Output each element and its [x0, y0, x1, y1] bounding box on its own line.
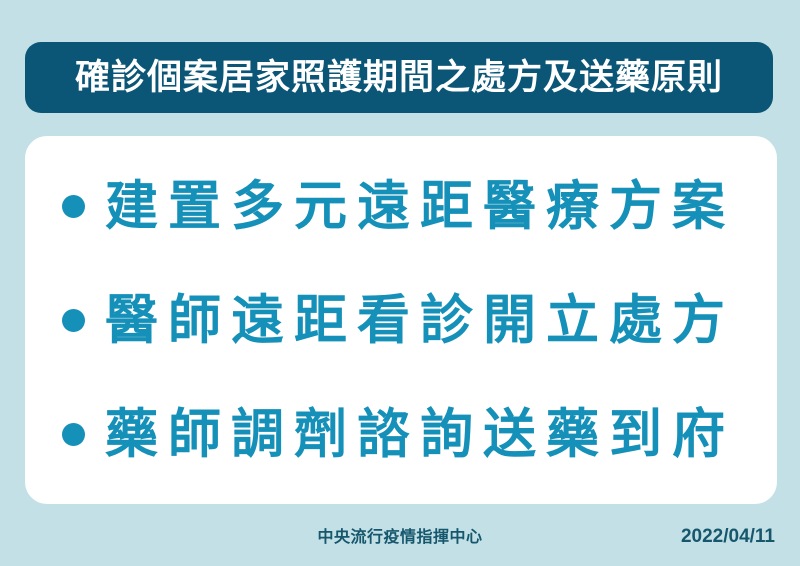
- bullet-item-label: 藥師調劑諮詢送藥到府: [105, 408, 735, 461]
- bullet-dot-icon: [62, 309, 85, 332]
- page-title: 確診個案居家照護期間之處方及送藥原則: [75, 60, 723, 95]
- list-item: 藥師調劑諮詢送藥到府: [25, 377, 777, 491]
- list-item: 建置多元遠距醫療方案: [25, 149, 777, 263]
- bullet-dot-icon: [62, 423, 85, 446]
- bullet-item-label: 建置多元遠距醫療方案: [105, 180, 735, 233]
- poster-root: 確診個案居家照護期間之處方及送藥原則 建置多元遠距醫療方案 醫師遠距看診開立處方…: [0, 0, 800, 566]
- bullet-dot-icon: [62, 195, 85, 218]
- list-item: 醫師遠距看診開立處方: [25, 263, 777, 377]
- footer: 中央流行疫情指揮中心 2022/04/11: [0, 504, 800, 566]
- bullet-item-label: 醫師遠距看診開立處方: [105, 294, 735, 347]
- footer-date: 2022/04/11: [681, 527, 775, 546]
- content-card: 建置多元遠距醫療方案 醫師遠距看診開立處方 藥師調劑諮詢送藥到府: [25, 136, 777, 504]
- title-banner: 確診個案居家照護期間之處方及送藥原則: [25, 42, 773, 113]
